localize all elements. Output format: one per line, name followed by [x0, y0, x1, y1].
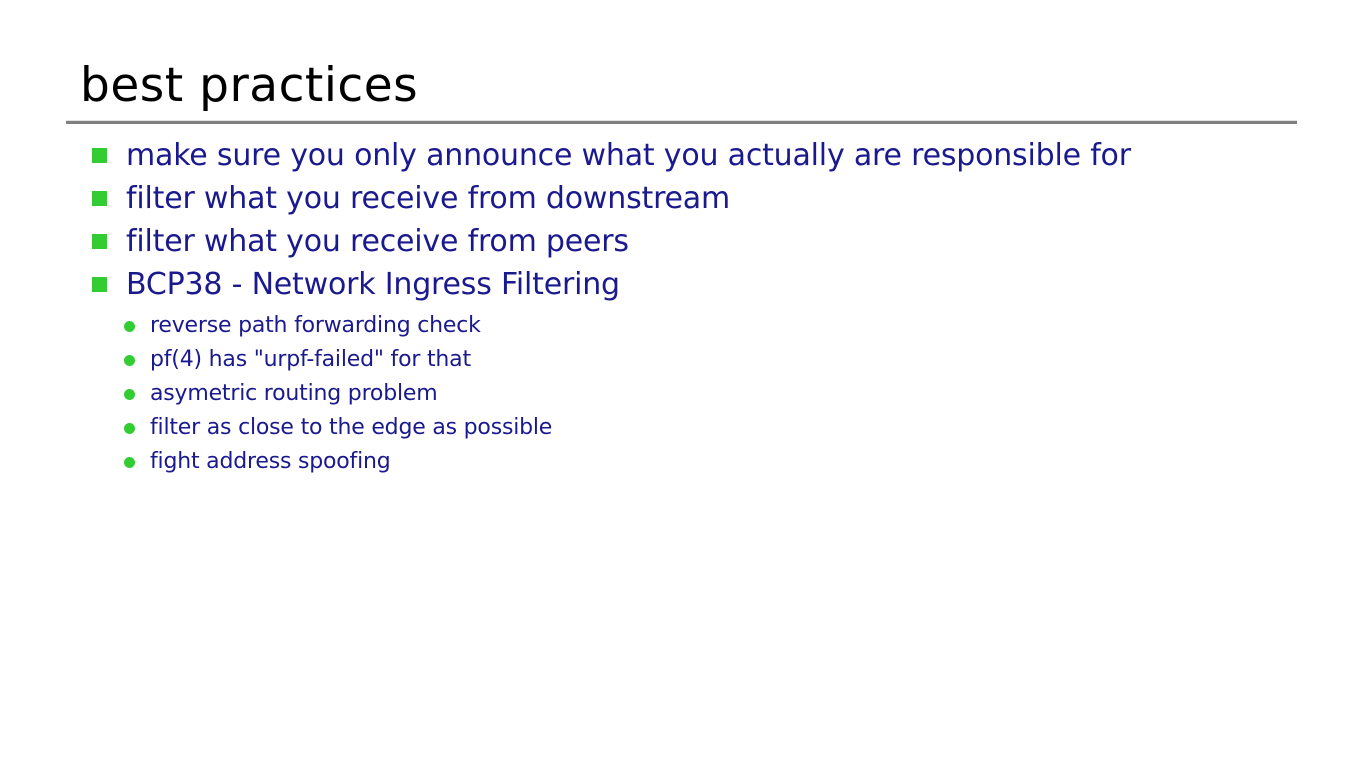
list-item-label: reverse path forwarding check	[150, 313, 481, 339]
round-bullet-icon	[124, 423, 135, 434]
list-item: BCP38 - Network Ingress Filtering	[92, 263, 1366, 306]
list-item-label: fight address spoofing	[150, 449, 391, 475]
list-item: filter what you receive from downstream	[92, 177, 1366, 220]
list-item-label: filter what you receive from peers	[126, 225, 629, 259]
bullet-list-level1: make sure you only announce what you act…	[0, 134, 1366, 306]
slide-body: make sure you only announce what you act…	[0, 134, 1366, 479]
list-item-label: asymetric routing problem	[150, 381, 437, 407]
list-item-label: make sure you only announce what you act…	[126, 139, 1131, 173]
list-item-label: BCP38 - Network Ingress Filtering	[126, 268, 620, 302]
round-bullet-icon	[124, 389, 135, 400]
list-item: make sure you only announce what you act…	[92, 134, 1366, 177]
list-item: fight address spoofing	[124, 445, 1366, 479]
list-item: asymetric routing problem	[124, 377, 1366, 411]
presentation-slide: best practices make sure you only announ…	[0, 0, 1366, 768]
square-bullet-icon	[92, 277, 107, 292]
list-item-label: filter as close to the edge as possible	[150, 415, 552, 441]
square-bullet-icon	[92, 191, 107, 206]
round-bullet-icon	[124, 355, 135, 366]
round-bullet-icon	[124, 457, 135, 468]
round-bullet-icon	[124, 321, 135, 332]
title-divider	[66, 120, 1297, 124]
list-item-label: pf(4) has "urpf-failed" for that	[150, 347, 471, 373]
list-item: filter as close to the edge as possible	[124, 411, 1366, 445]
list-item: filter what you receive from peers	[92, 220, 1366, 263]
square-bullet-icon	[92, 148, 107, 163]
bullet-list-level2: reverse path forwarding check pf(4) has …	[0, 309, 1366, 479]
list-item-label: filter what you receive from downstream	[126, 182, 730, 216]
list-item: reverse path forwarding check	[124, 309, 1366, 343]
page-title: best practices	[80, 58, 418, 114]
square-bullet-icon	[92, 234, 107, 249]
list-item: pf(4) has "urpf-failed" for that	[124, 343, 1366, 377]
